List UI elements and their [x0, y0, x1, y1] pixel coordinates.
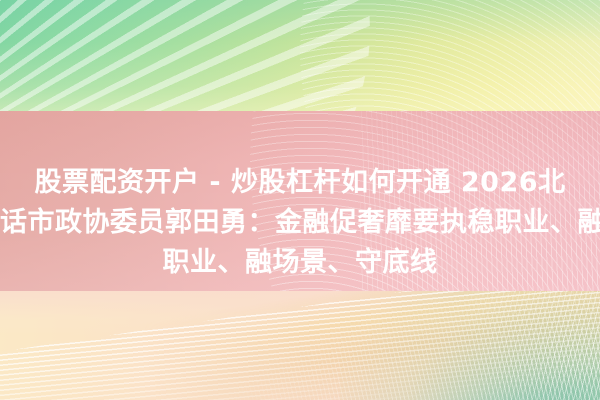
headline-line-2: 话市政协委员郭田勇：金融促奢靡要执稳职业、融场 [0, 203, 600, 243]
bottom-right-wave-decoration [380, 291, 600, 400]
top-right-concentric-arcs-decoration [300, 0, 600, 111]
banner-headline: 股票配资开户 - 炒股杠杆如何开通 2026北 话市政协委员郭田勇：金融促奢靡要… [0, 163, 600, 283]
background-band-bottom [0, 291, 600, 400]
background-band-top [0, 0, 600, 111]
promo-banner-image: 股票配资开户 - 炒股杠杆如何开通 2026北 话市政协委员郭田勇：金融促奢靡要… [0, 0, 600, 400]
headline-line-1: 股票配资开户 - 炒股杠杆如何开通 2026北 [0, 163, 600, 203]
headline-line-3: 职业、融场景、守底线 [0, 243, 600, 283]
